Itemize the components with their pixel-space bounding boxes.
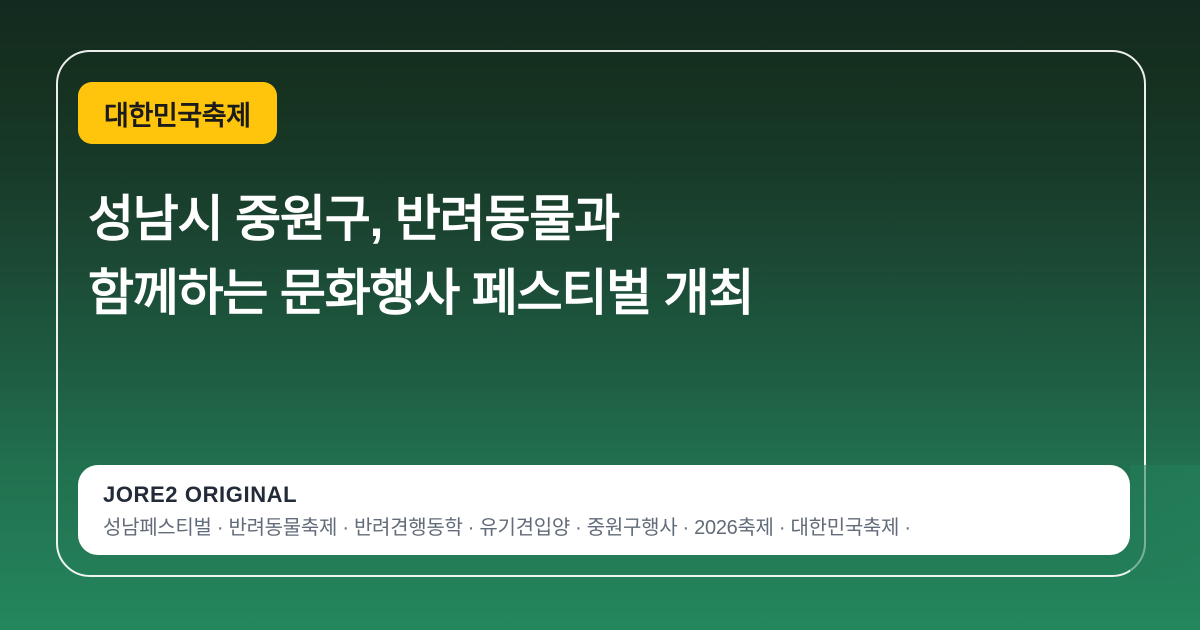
headline-line-1: 성남시 중원구, 반려동물과: [88, 182, 1088, 256]
category-badge[interactable]: 대한민국축제: [78, 82, 277, 144]
headline: 성남시 중원구, 반려동물과 함께하는 문화행사 페스티벌 개최: [88, 182, 1088, 330]
category-badge-label: 대한민국축제: [104, 94, 251, 133]
tag-overflow-veil: [1130, 465, 1200, 580]
footer-card: [78, 465, 1130, 555]
promo-card-canvas: 대한민국축제 성남시 중원구, 반려동물과 함께하는 문화행사 페스티벌 개최 …: [0, 0, 1200, 630]
headline-line-2: 함께하는 문화행사 페스티벌 개최: [88, 256, 1088, 330]
